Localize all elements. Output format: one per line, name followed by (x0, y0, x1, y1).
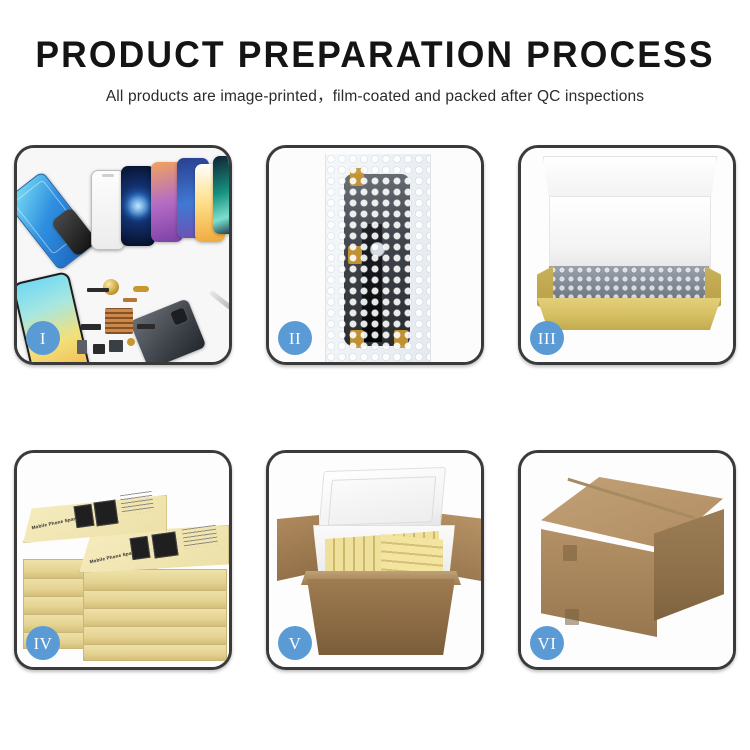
page-subtitle: All products are image-printed，film-coat… (0, 84, 750, 106)
vibration-motor-part (93, 344, 105, 354)
carton-tape-lower (565, 609, 579, 625)
panel-badge-3: III (530, 321, 564, 355)
panel-badge-2: II (278, 321, 312, 355)
stacked-box-r4 (83, 625, 227, 645)
box-window-front-2 (151, 531, 178, 558)
stacked-box-r1 (83, 569, 227, 591)
white-foam-sheet (549, 196, 711, 270)
logic-board-component (105, 308, 133, 334)
box-window-back-1 (74, 504, 95, 528)
kraft-box-front (537, 298, 721, 330)
battery-connector-part (109, 340, 123, 352)
process-panel-grid: I II III (0, 145, 750, 670)
sim-tray-part (77, 340, 87, 354)
speaker-component (103, 279, 119, 295)
camera-module-part (81, 324, 101, 330)
panel-badge-4: IV (26, 626, 60, 660)
carton-body (307, 579, 455, 655)
page-header: PRODUCT PREPARATION PROCESS All products… (0, 0, 750, 106)
process-panel-5[interactable]: V (266, 450, 484, 670)
copper-shield-part (123, 298, 137, 302)
box-window-front-1 (130, 536, 151, 560)
process-panel-4[interactable]: Mobile Phone Spare Parts Mobile Phone Sp… (14, 450, 232, 670)
page-title: PRODUCT PREPARATION PROCESS (15, 36, 735, 75)
grey-bubble-wrap-layer (549, 266, 709, 300)
tempered-glass-panel (91, 170, 125, 250)
process-panel-2[interactable]: II (266, 145, 484, 365)
styrofoam-lid (318, 467, 446, 535)
stacked-box-r3 (83, 607, 227, 627)
teal-wave-screen (213, 156, 229, 234)
blue-wave-screen (121, 166, 155, 246)
stacked-box-r5 (83, 643, 227, 661)
panel-badge-5: V (278, 626, 312, 660)
earpiece-mesh-part (137, 324, 155, 329)
bubble-texture (326, 154, 430, 362)
process-panel-6[interactable]: VI (518, 450, 736, 670)
process-panel-3[interactable]: III (518, 145, 736, 365)
antenna-strip-part (87, 288, 109, 292)
bubble-wrap-bag (325, 154, 431, 362)
screw-part (127, 338, 135, 346)
panel-badge-6: VI (530, 626, 564, 660)
gold-flex-connector (133, 286, 149, 292)
panel-badge-1: I (26, 321, 60, 355)
carton-tape-upper (563, 545, 577, 561)
stacked-box-r2 (83, 589, 227, 609)
box-window-back-2 (93, 500, 118, 527)
process-panel-1[interactable]: I (14, 145, 232, 365)
